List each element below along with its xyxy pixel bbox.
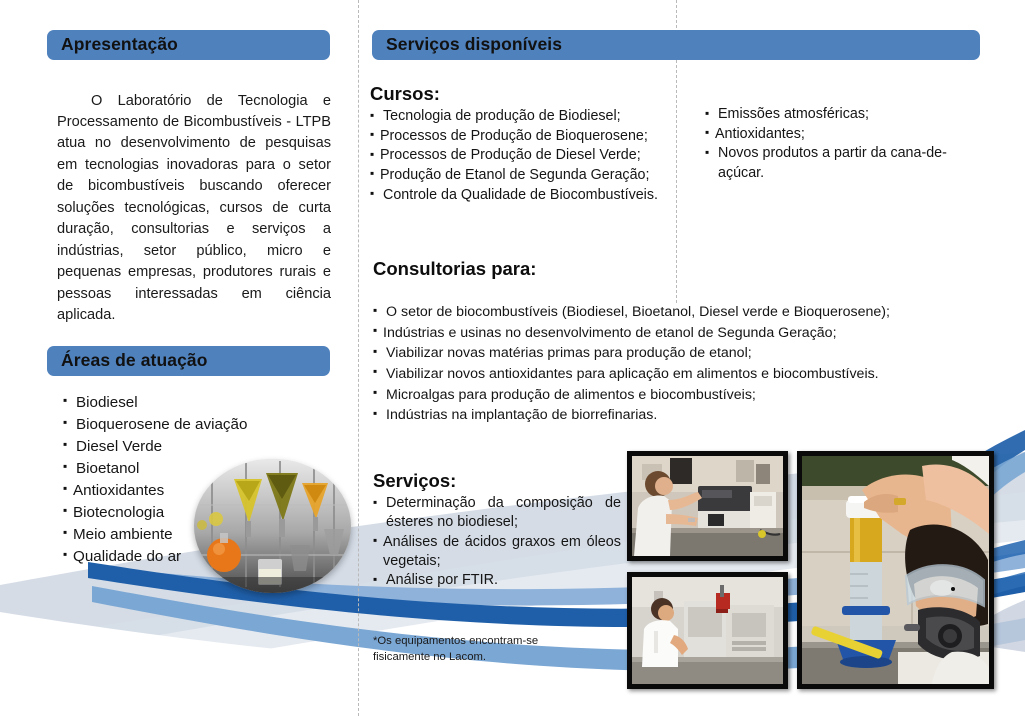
- servicos-block: Serviços: Determinação da composição de …: [373, 470, 621, 591]
- fold-line-main: [358, 0, 359, 716]
- list-item: Indústrias na implantação de biorrefinar…: [373, 405, 973, 426]
- areas-de-atuacao-list: Biodiesel Bioquerosene de aviação Diesel…: [63, 392, 353, 568]
- list-item: Microalgas para produção de alimentos e …: [373, 385, 973, 406]
- list-item: Análises de ácidos graxos em óleos veget…: [373, 533, 621, 572]
- consultorias-block: Consultorias para: O setor de biocombust…: [373, 258, 973, 426]
- consultorias-heading: Consultorias para:: [373, 258, 973, 280]
- list-item: Controle da Qualidade de Biocombustíveis…: [370, 186, 675, 206]
- list-item: Processos de Produção de Diesel Verde;: [370, 146, 675, 166]
- spectrometer-photo: [627, 451, 788, 561]
- list-item: Bioetanol: [63, 458, 353, 480]
- cursos-block: Cursos: Tecnologia de produção de Biodie…: [370, 83, 675, 205]
- list-item: Emissões atmosféricas;: [705, 105, 965, 125]
- list-item: Processos de Produção de Bioquerosene;: [370, 127, 675, 147]
- cursos-secondary-block: Emissões atmosféricas; Antioxidantes; No…: [705, 105, 965, 183]
- list-item: Tecnologia de produção de Biodiesel;: [370, 107, 675, 127]
- list-item: Qualidade do ar: [63, 546, 353, 568]
- list-item: Bioquerosene de aviação: [63, 414, 353, 436]
- servicos-heading: Serviços:: [373, 470, 621, 492]
- servicos-disponiveis-title: Serviços disponíveis: [372, 36, 562, 54]
- list-item: Viabilizar novos antioxidantes para apli…: [373, 364, 973, 385]
- chromatograph-photo-art: [632, 577, 783, 684]
- servicos-list: Determinação da composição de ésteres no…: [373, 494, 621, 590]
- cursos-list: Tecnologia de produção de Biodiesel; Pro…: [370, 107, 675, 205]
- list-item: Novos produtos a partir da cana-de-açúca…: [705, 144, 965, 183]
- cylinder-respirator-photo: [797, 451, 994, 689]
- areas-de-atuacao-header-bar: Áreas de atuação: [47, 346, 330, 376]
- list-item: Antioxidantes;: [705, 125, 965, 145]
- brochure-page: Apresentação O Laboratório de Tecnologia…: [0, 0, 1025, 716]
- list-item: Meio ambiente: [63, 524, 353, 546]
- apresentacao-paragraph-block: O Laboratório de Tecnologia e Processame…: [57, 76, 331, 341]
- list-item: Biotecnologia: [63, 502, 353, 524]
- list-item: Viabilizar novas matérias primas para pr…: [373, 343, 973, 364]
- list-item: Antioxidantes: [63, 480, 353, 502]
- list-item: Análise por FTIR.: [373, 571, 621, 590]
- list-item: Determinação da composição de ésteres no…: [373, 494, 621, 533]
- cylinder-respirator-photo-art: [802, 456, 989, 684]
- chromatograph-photo: [627, 572, 788, 689]
- list-item: Produção de Etanol de Segunda Geração;: [370, 166, 675, 186]
- servicos-footnote: *Os equipamentos encontram-se fisicament…: [373, 634, 588, 665]
- cursos-heading: Cursos:: [370, 83, 675, 105]
- cursos-secondary-list: Emissões atmosféricas; Antioxidantes; No…: [705, 105, 965, 183]
- spectrometer-photo-art: [632, 456, 783, 556]
- apresentacao-paragraph: O Laboratório de Tecnologia e Processame…: [57, 91, 331, 327]
- areas-de-atuacao-title: Áreas de atuação: [47, 352, 208, 370]
- apresentacao-header-bar: Apresentação: [47, 30, 330, 60]
- list-item: Biodiesel: [63, 392, 353, 414]
- list-item: O setor de biocombustíveis (Biodiesel, B…: [373, 302, 973, 323]
- list-item: Diesel Verde: [63, 436, 353, 458]
- areas-de-atuacao-list-block: Biodiesel Bioquerosene de aviação Diesel…: [63, 392, 353, 568]
- consultorias-list: O setor de biocombustíveis (Biodiesel, B…: [373, 302, 973, 426]
- apresentacao-title: Apresentação: [47, 36, 178, 54]
- servicos-disponiveis-header-bar: Serviços disponíveis: [372, 30, 980, 60]
- list-item: Indústrias e usinas no desenvolvimento d…: [373, 323, 973, 344]
- servicos-footnote-block: *Os equipamentos encontram-se fisicament…: [373, 634, 588, 665]
